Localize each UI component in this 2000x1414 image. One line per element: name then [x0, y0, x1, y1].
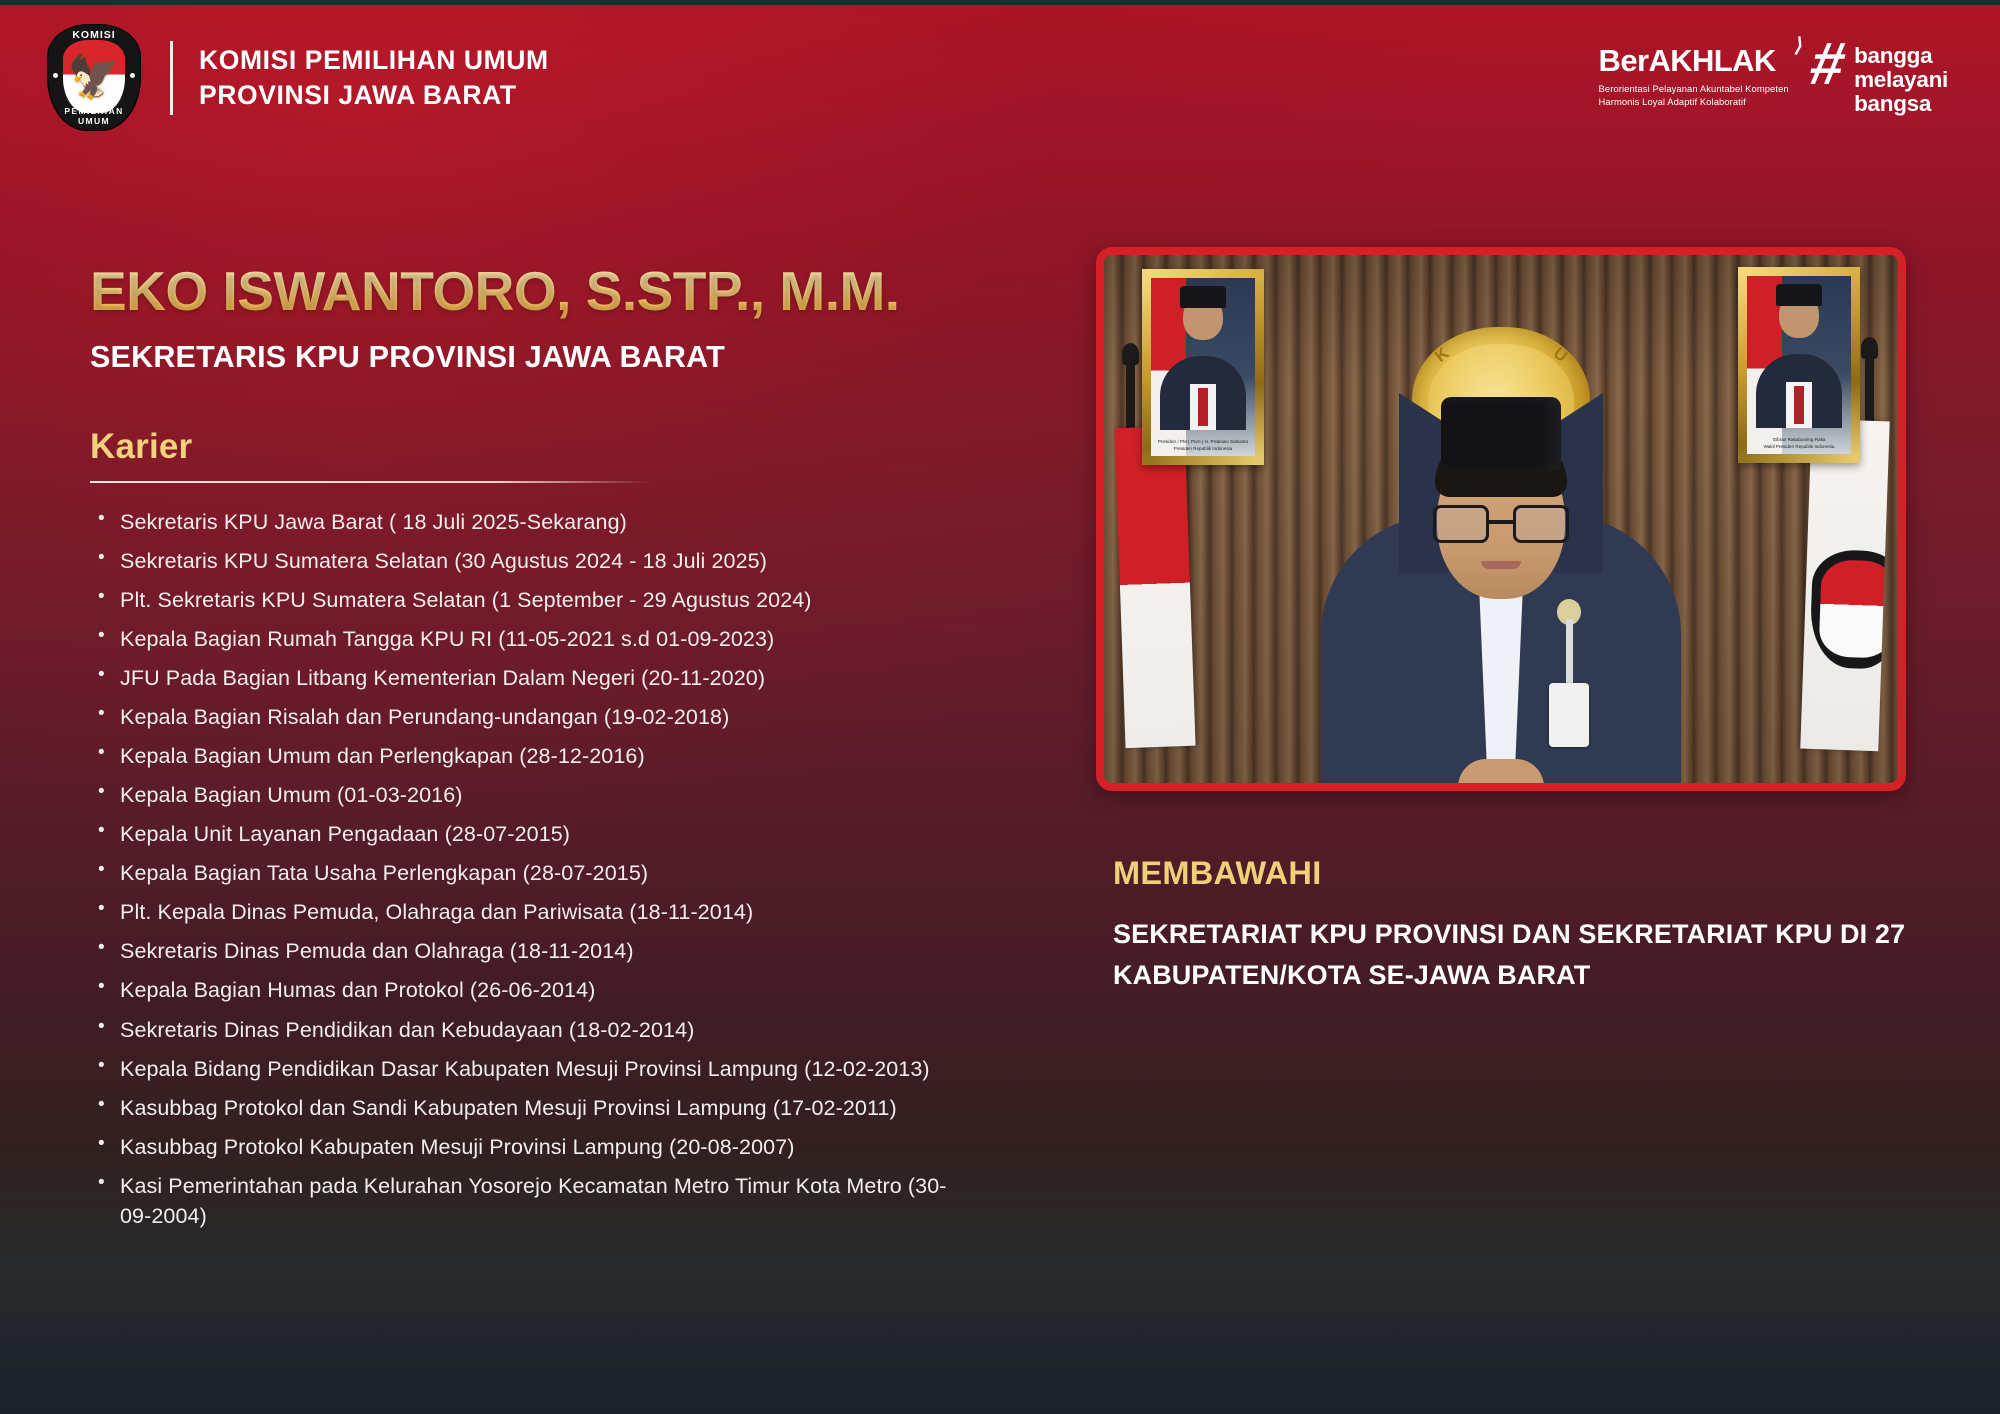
emblem-dot-left [53, 73, 58, 78]
berakhlak-tagline-line2: Harmonis Loyal Adaptif Kolaboratif [1599, 95, 1789, 108]
bangga-melayani-bangsa-block: bangga melayani bangsa [1854, 41, 1948, 116]
career-list-item: Kepala Bagian Tata Usaha Perlengkapan (2… [90, 858, 970, 889]
membawahi-body: SEKRETARIAT KPU PROVINSI DAN SEKRETARIAT… [1113, 914, 1953, 996]
vice-president-portrait-frame: Gibran Rakabuming Raka Wakil Presiden Re… [1738, 267, 1860, 463]
slogan-line2: melayani [1854, 68, 1948, 92]
page-header: 🦅 KOMISI PEMILIHAN UMUM KOMISI PEMILIHAN… [0, 5, 2000, 128]
emblem-bottom-text: PEMILIHAN UMUM [48, 106, 140, 126]
header-divider [170, 41, 173, 115]
berakhlak-tagline-line1: Berorientasi Pelayanan Akuntabel Kompete… [1599, 82, 1789, 95]
kpu-flag-icon [1800, 419, 1889, 752]
kpu-flag-emblem [1809, 549, 1890, 670]
berakhlak-text-block: BerAKHLAK ⟩ Berorientasi Pelayanan Akunt… [1599, 41, 1789, 109]
career-divider [90, 481, 650, 483]
career-list-item: Kasubbag Protokol dan Sandi Kabupaten Me… [90, 1093, 970, 1124]
career-list-item: Kepala Bidang Pendidikan Dasar Kabupaten… [90, 1054, 970, 1085]
lanyard-strap [1566, 619, 1573, 685]
header-title-block: KOMISI PEMILIHAN UMUM PROVINSI JAWA BARA… [199, 43, 549, 113]
career-list-item: Kasubbag Protokol Kabupaten Mesuji Provi… [90, 1132, 970, 1163]
president-portrait-frame: Presiden / PM ( Purn ) H. Prabowo Subian… [1142, 269, 1264, 465]
flagpole-right [1865, 353, 1874, 431]
career-list-item: Kepala Unit Layanan Pengadaan (28-07-201… [90, 819, 970, 850]
career-list-item: Kasi Pemerintahan pada Kelurahan Yosorej… [90, 1171, 970, 1232]
portrait-caption: Presiden / PM ( Purn ) H. Prabowo Subian… [1151, 439, 1255, 453]
page-title: EKO ISWANTORO, S.STP., M.M. [90, 262, 970, 320]
emblem-top-text: KOMISI [48, 29, 140, 41]
person-hands [1458, 759, 1544, 787]
person-songkok-cap [1441, 397, 1561, 471]
career-list-item: Sekretaris KPU Sumatera Selatan (30 Agus… [90, 546, 970, 577]
portrait-caption-line1: Gibran Rakabuming Raka [1747, 437, 1851, 444]
garuda-icon: 🦅 [68, 56, 120, 98]
poster-root: 🦅 KOMISI PEMILIHAN UMUM KOMISI PEMILIHAN… [0, 0, 2000, 1414]
career-list-item: JFU Pada Bagian Litbang Kementerian Dala… [90, 663, 970, 694]
emblem-inner: 🦅 [63, 40, 125, 113]
career-list-item: Kepala Bagian Umum dan Perlengkapan (28-… [90, 741, 970, 772]
career-list-item: Kepala Bagian Risalah dan Perundang-unda… [90, 702, 970, 733]
berakhlak-tick-icon: ⟩ [1793, 35, 1804, 56]
career-list-item: Sekretaris Dinas Pemuda dan Olahraga (18… [90, 936, 970, 967]
header-title-line2: PROVINSI JAWA BARAT [199, 78, 549, 113]
portrait-songkok [1180, 286, 1226, 308]
career-list-item: Plt. Kepala Dinas Pemuda, Olahraga dan P… [90, 897, 970, 928]
slogan-line3: bangsa [1854, 92, 1948, 116]
portrait-tie [1198, 388, 1208, 426]
berakhlak-wordmark-label: BerAKHLAK [1599, 43, 1776, 78]
membawahi-section: MEMBAWAHI SEKRETARIAT KPU PROVINSI DAN S… [1113, 855, 1953, 996]
membawahi-heading: MEMBAWAHI [1113, 855, 1953, 892]
career-list-item: Plt. Sekretaris KPU Sumatera Selatan (1 … [90, 585, 970, 616]
portrait-caption: Gibran Rakabuming Raka Wakil Presiden Re… [1747, 437, 1851, 451]
person-figure [1321, 383, 1681, 783]
indonesia-flag-icon [1114, 426, 1195, 748]
portrait-songkok [1776, 284, 1822, 306]
career-list-item: Sekretaris KPU Jawa Barat ( 18 Juli 2025… [90, 507, 970, 538]
person-mouth [1481, 561, 1521, 569]
header-title-line1: KOMISI PEMILIHAN UMUM [199, 43, 549, 78]
hashtag-icon: # [1806, 41, 1848, 88]
portrait-tie [1794, 386, 1804, 424]
slogan-line1: bangga [1854, 44, 1948, 68]
career-list-item: Kepala Bagian Rumah Tangga KPU RI (11-05… [90, 624, 970, 655]
eyeglass-lens-left [1433, 505, 1489, 543]
header-branding: 🦅 KOMISI PEMILIHAN UMUM KOMISI PEMILIHAN… [48, 25, 549, 130]
profile-column: EKO ISWANTORO, S.STP., M.M. SEKRETARIS K… [90, 262, 970, 1240]
id-badge [1549, 683, 1589, 747]
emblem-dot-right [130, 73, 135, 78]
career-heading: Karier [90, 427, 970, 467]
berakhlak-logo: BerAKHLAK ⟩ Berorientasi Pelayanan Akunt… [1599, 41, 1948, 116]
eyeglass-lens-right [1513, 505, 1569, 543]
portrait-caption-line2: Wakil Presiden Republik Indonesia [1747, 444, 1851, 451]
portrait-caption-line1: Presiden / PM ( Purn ) H. Prabowo Subian… [1151, 439, 1255, 446]
berakhlak-wordmark: BerAKHLAK ⟩ [1599, 45, 1789, 76]
career-list-item: Kepala Bagian Humas dan Protokol (26-06-… [90, 975, 970, 1006]
profile-role: SEKRETARIS KPU PROVINSI JAWA BARAT [90, 340, 970, 375]
person-eyeglasses [1433, 505, 1569, 545]
career-list: Sekretaris KPU Jawa Barat ( 18 Juli 2025… [90, 507, 970, 1231]
career-list-item: Sekretaris Dinas Pendidikan dan Kebudaya… [90, 1015, 970, 1046]
kpu-emblem-icon: 🦅 KOMISI PEMILIHAN UMUM [48, 25, 140, 130]
portrait-caption-line2: Presiden Republik Indonesia [1151, 446, 1255, 453]
official-portrait-photo: K U P M Presiden / PM ( Purn ) H. Prabow… [1096, 247, 1906, 791]
eyeglass-bridge [1489, 520, 1513, 524]
career-list-item: Kepala Bagian Umum (01-03-2016) [90, 780, 970, 811]
